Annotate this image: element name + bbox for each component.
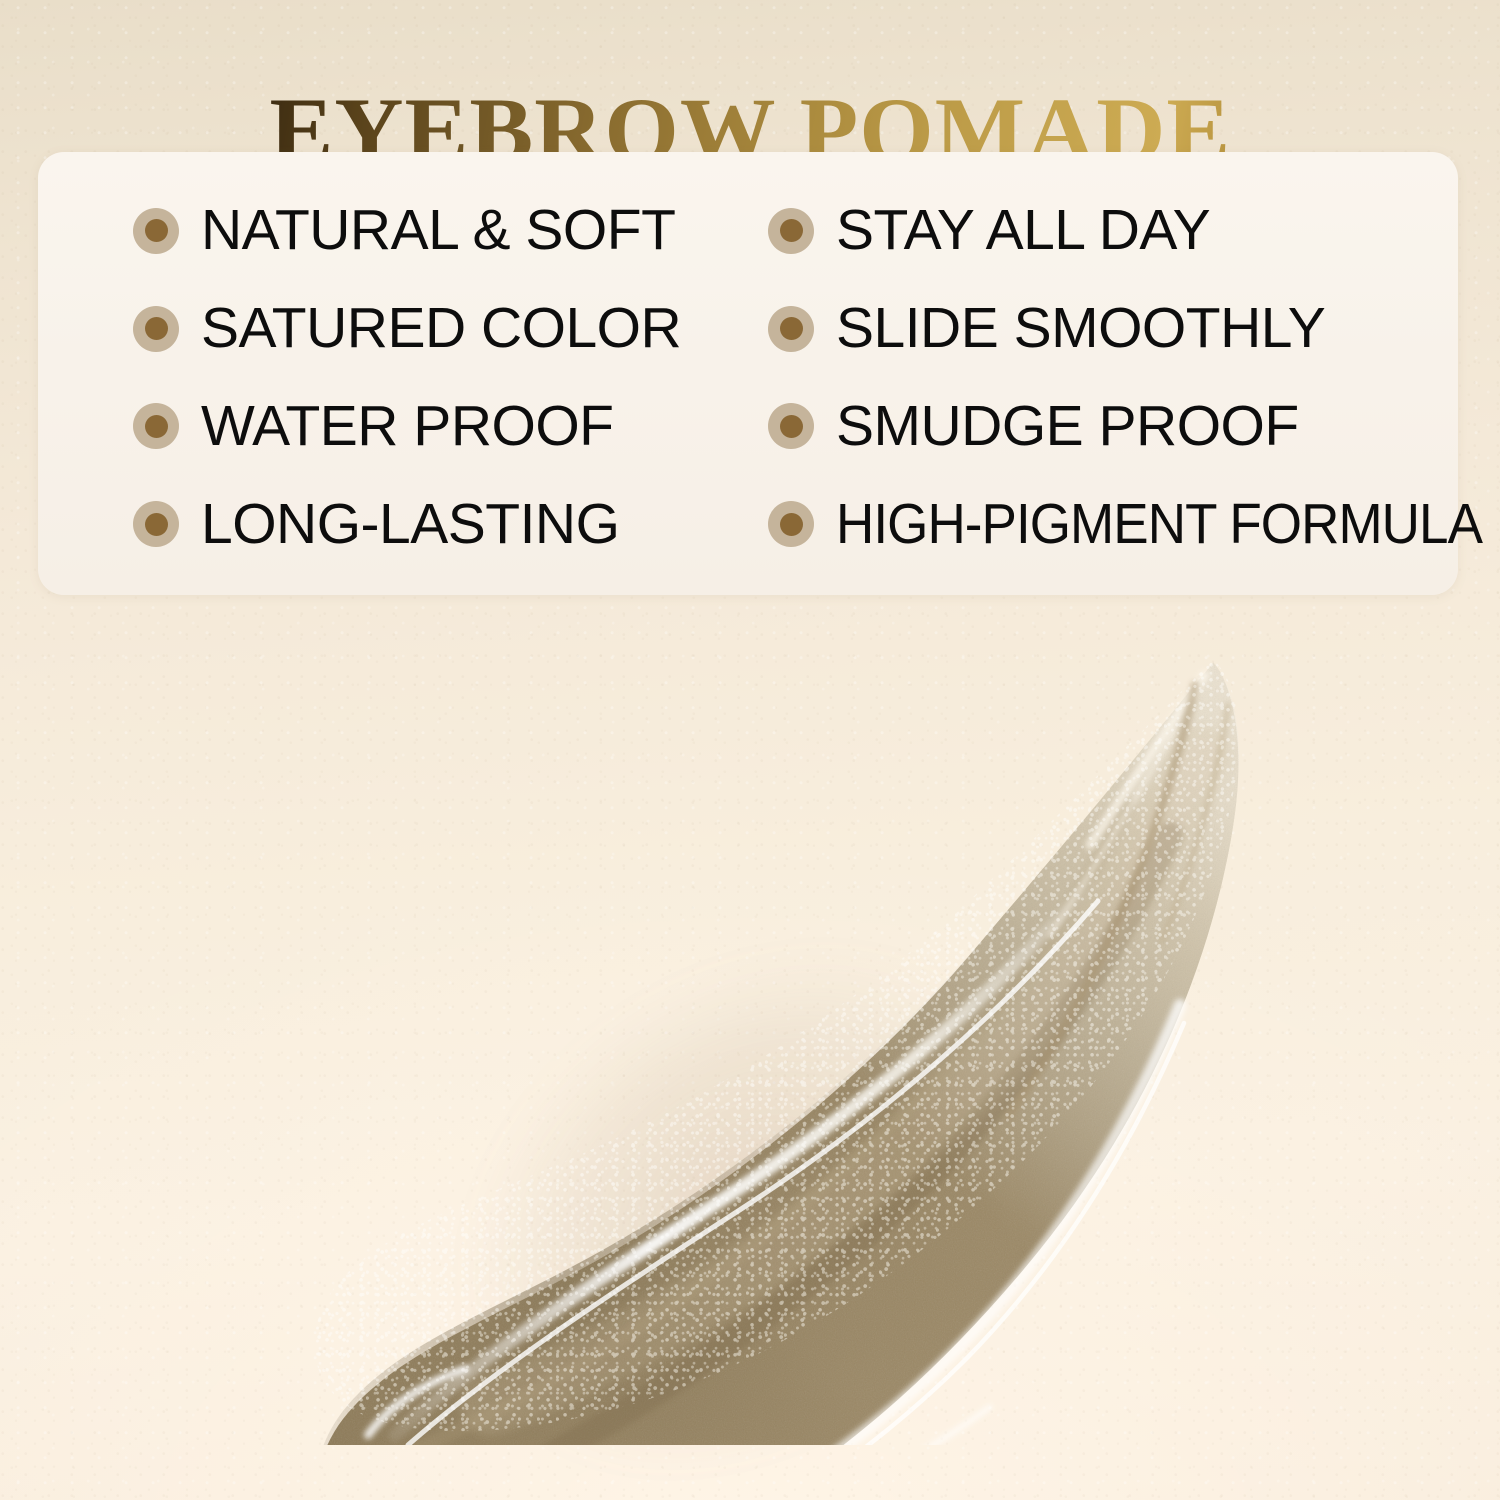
product-image-canvas: EYEBROW POMADE NATURAL & SOFT STAY ALL D… [0, 0, 1500, 1500]
feature-item-long-lasting: LONG-LASTING [38, 475, 730, 573]
feature-item-smudge-proof: SMUDGE PROOF [730, 378, 1458, 476]
feature-item-slide-smoothly: SLIDE SMOOTHLY [730, 280, 1458, 378]
bullet-dot-icon [133, 501, 179, 547]
bullet-dot-icon [768, 208, 814, 254]
feature-item-natural-soft: NATURAL & SOFT [38, 182, 730, 280]
bullet-dot-icon [768, 306, 814, 352]
product-swatch-area [0, 600, 1500, 1500]
feature-label: STAY ALL DAY [836, 202, 1210, 259]
bullet-dot-icon [768, 501, 814, 547]
bullet-dot-icon [768, 403, 814, 449]
bullet-dot-icon [133, 403, 179, 449]
feature-card: NATURAL & SOFT STAY ALL DAY SATURED COLO… [38, 152, 1458, 595]
feature-label: SLIDE SMOOTHLY [836, 300, 1325, 357]
feature-item-satured-color: SATURED COLOR [38, 280, 730, 378]
feature-label: WATER PROOF [201, 398, 613, 455]
feature-label: NATURAL & SOFT [201, 202, 675, 259]
pomade-smear-svg [290, 645, 1260, 1445]
bullet-dot-icon [133, 306, 179, 352]
feature-label: SATURED COLOR [201, 300, 681, 357]
feature-item-stay-all-day: STAY ALL DAY [730, 182, 1458, 280]
feature-list: NATURAL & SOFT STAY ALL DAY SATURED COLO… [38, 152, 1458, 595]
feature-item-water-proof: WATER PROOF [38, 378, 730, 476]
feature-label: LONG-LASTING [201, 496, 619, 553]
pomade-swatch-image [290, 645, 1260, 1445]
bullet-dot-icon [133, 208, 179, 254]
smear-body [290, 645, 1260, 1445]
feature-label: SMUDGE PROOF [836, 398, 1299, 455]
